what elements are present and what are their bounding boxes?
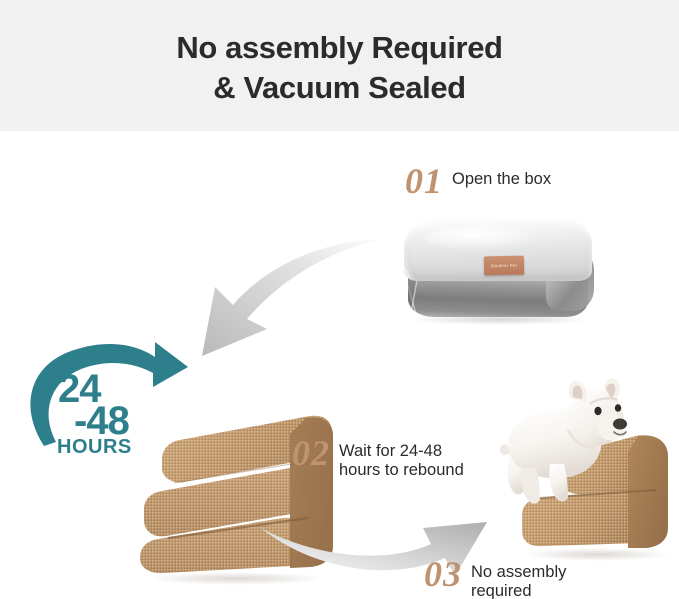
page-title-line1: No assembly Required (176, 30, 502, 65)
badge-line-hours: HOURS (57, 437, 132, 457)
step-03-text: No assembly required (462, 556, 566, 599)
badge-line-48: -48 (74, 401, 129, 441)
page-title-line2: & Vacuum Sealed (0, 68, 679, 108)
step-03-number: 03 (424, 556, 462, 592)
step-02-number: 02 (292, 435, 330, 471)
package-sheen (426, 225, 546, 251)
infographic-canvas: No assembly Required & Vacuum Sealed 01 … (0, 0, 679, 599)
step-02-text: Wait for 24-48 hours to rebound (330, 435, 464, 480)
french-bulldog (498, 378, 630, 513)
package-brand-label: Gardner Pet (484, 256, 524, 276)
step-01: 01 Open the box (405, 163, 551, 199)
step-02: 02 Wait for 24-48 hours to rebound (292, 435, 464, 480)
step-01-text: Open the box (443, 163, 551, 189)
step-01-number: 01 (405, 163, 443, 199)
page-title: No assembly Required & Vacuum Sealed (0, 28, 679, 108)
step-03: 03 No assembly required (424, 556, 566, 599)
arrow-box-to-stairs-icon (175, 225, 390, 360)
vacuum-sealed-package: Gardner Pet (398, 219, 598, 329)
